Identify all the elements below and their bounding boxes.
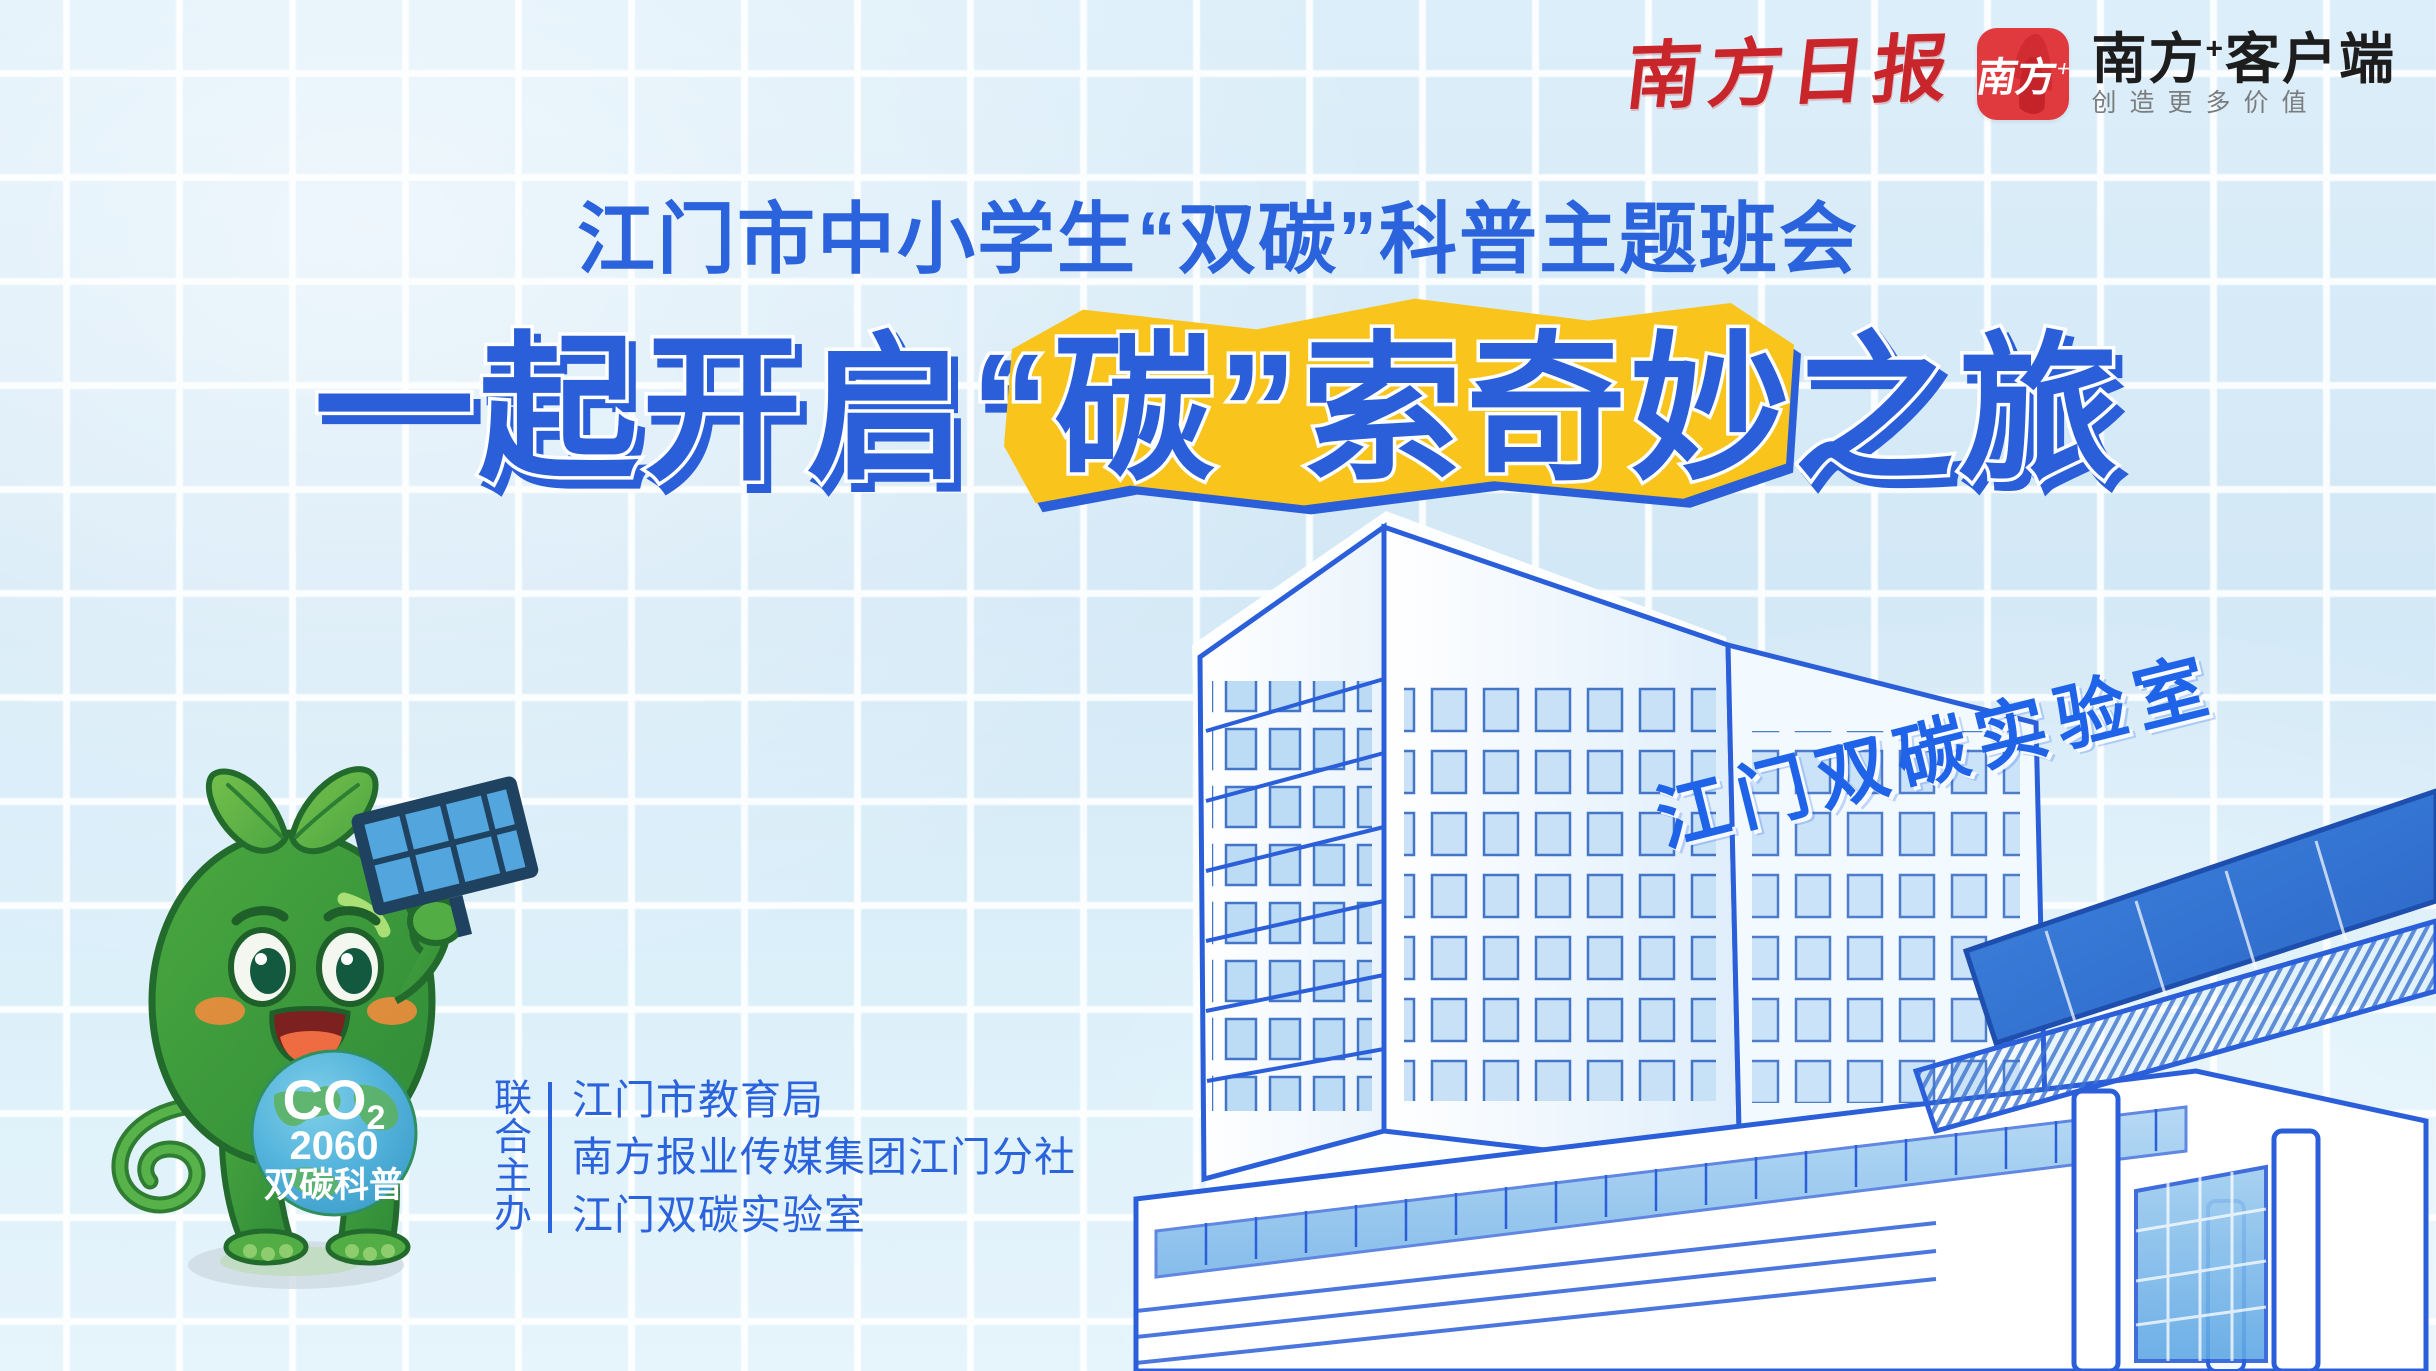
app-name-suffix: 客户端: [2225, 28, 2396, 90]
organizers-label-char-1: 联: [494, 1080, 532, 1119]
nanfang-plus-app-icon[interactable]: 南方+: [1977, 28, 2069, 120]
app-tagline: 创造更多价值: [2091, 91, 2396, 116]
app-name-prefix: 南方: [2091, 28, 2205, 90]
organizers-label-char-4: 办: [494, 1196, 532, 1235]
subtitle-text: 江门市中小学生“双碳”科普主题班会: [577, 195, 1859, 283]
organizers-divider: [548, 1082, 552, 1233]
app-name: 南方+客户端: [2091, 32, 2396, 87]
glass-curtain-wall: [2136, 1167, 2266, 1361]
app-icon-mark-text: 南方: [1974, 55, 2060, 100]
app-name-block: 南方+客户端 创造更多价值: [2091, 32, 2396, 116]
poster-canvas: 南方日报 南方+ 南方+客户端 创造更多价值 江门市中小学生“双碳”科普主题班会…: [0, 0, 2436, 1371]
organizers-label-char-2: 合: [494, 1119, 532, 1158]
mascot-cheek-left: [195, 997, 245, 1025]
mascot-cheek-right: [367, 997, 417, 1025]
subtitle-row: 江门市中小学生“双碳”科普主题班会: [0, 200, 2436, 278]
masthead: 南方日报 南方+ 南方+客户端 创造更多价值: [1627, 28, 2396, 120]
mascot-leaf: [209, 772, 286, 851]
event-subtitle: 江门市中小学生“双碳”科普主题班会: [577, 200, 1859, 278]
app-icon-wordmark: 南方+: [1973, 45, 2074, 103]
app-name-plus-icon: +: [2205, 33, 2225, 66]
organizers-label: 联 合 主 办: [494, 1076, 548, 1239]
globe-label-text: 双碳科普: [264, 1166, 404, 1205]
southern-daily-logo: 南方日报: [1623, 33, 1961, 116]
building-illustration: 江门双碳实验室: [956, 431, 2436, 1371]
globe-year-text: 2060: [290, 1124, 379, 1168]
mascot-illustration: CO2 2060 双碳科普: [96, 745, 476, 1305]
organizers-label-char-3: 主: [494, 1158, 532, 1197]
